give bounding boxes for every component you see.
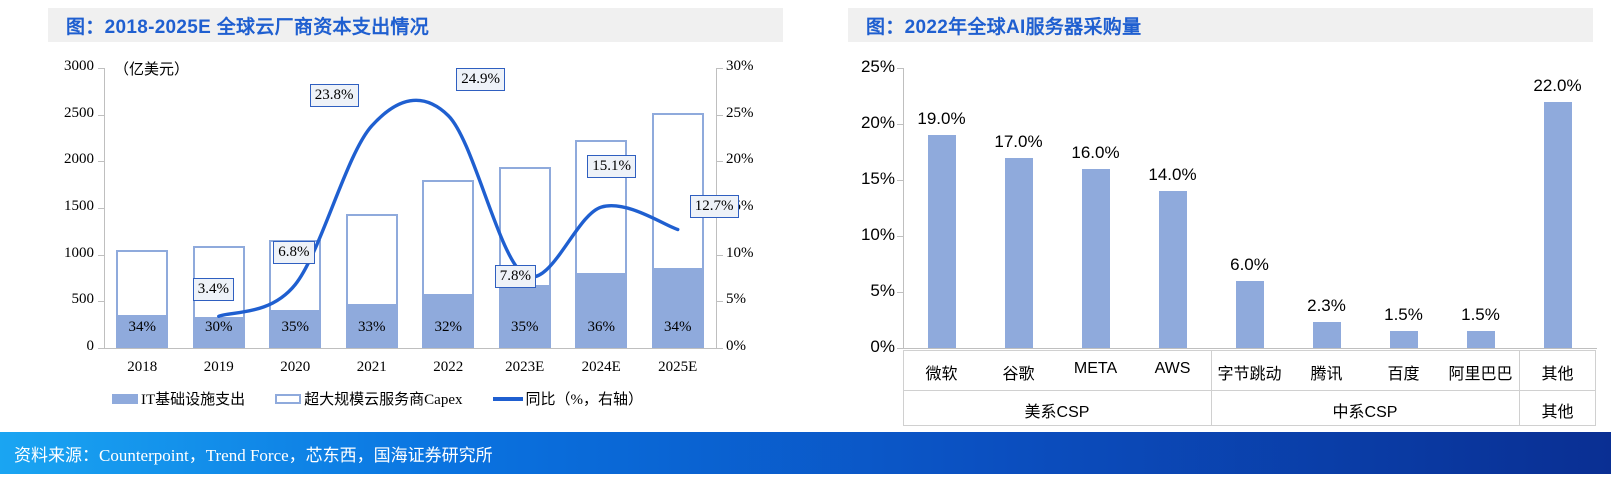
bar-其他 — [1544, 102, 1572, 348]
legend-item-it-infra: IT基础设施支出 — [112, 388, 245, 409]
group-label-中系CSP: 中系CSP — [1285, 398, 1445, 422]
yoy-callout-2023E: 7.8% — [495, 265, 536, 288]
bar-AWS — [1159, 191, 1187, 348]
bar-value-label-其他: 22.0% — [1508, 76, 1608, 96]
line-icon — [493, 397, 523, 401]
yoy-callout-2025E: 12.7% — [690, 195, 739, 218]
bar-value-label-AWS: 14.0% — [1123, 165, 1223, 185]
category-label-其他: 其他 — [1510, 360, 1606, 384]
filled-square-icon — [112, 394, 138, 404]
bar-value-label-微软: 19.0% — [892, 109, 992, 129]
bar-微软 — [928, 135, 956, 348]
bar-字节跳动 — [1236, 281, 1264, 348]
group-label-其他: 其他 — [1478, 398, 1611, 422]
legend-item-yoy: 同比（%，右轴） — [493, 388, 644, 409]
category-group-row-divider — [903, 390, 1596, 391]
bar-value-label-META: 16.0% — [1046, 143, 1146, 163]
slide-canvas: 图：2018-2025E 全球云厂商资本支出情况 050010001500200… — [0, 0, 1611, 482]
left-plot-area: 0500100015002000250030000%5%10%15%20%25%… — [0, 0, 800, 425]
right-chart-y-tick-label-20%: 20% — [837, 113, 895, 133]
yoy-callout-2021: 23.8% — [310, 84, 359, 107]
yoy-callout-2022: 24.9% — [456, 68, 505, 91]
yoy-callout-2024E: 15.1% — [587, 155, 636, 178]
right-chart-x-axis — [903, 348, 1597, 349]
right-chart-y-tick — [897, 236, 903, 237]
legend-label-hyperscaler-capex: 超大规模云服务商Capex — [304, 388, 462, 409]
group-label-美系CSP: 美系CSP — [977, 398, 1137, 422]
bar-META — [1082, 169, 1110, 348]
bar-谷歌 — [1005, 158, 1033, 348]
legend-item-hyperscaler-capex: 超大规模云服务商Capex — [275, 388, 462, 409]
legend-label-it-infra: IT基础设施支出 — [141, 388, 245, 409]
right-chart-y-tick-label-15%: 15% — [837, 169, 895, 189]
right-chart-y-tick — [897, 348, 903, 349]
right-chart-y-tick — [897, 292, 903, 293]
hollow-square-icon — [275, 394, 301, 404]
bar-腾讯 — [1313, 322, 1341, 348]
bar-百度 — [1390, 331, 1418, 348]
right-chart-y-tick-label-0%: 0% — [837, 337, 895, 357]
yoy-line-series — [0, 0, 800, 425]
legend-label-yoy: 同比（%，右轴） — [526, 388, 644, 409]
source-text: 资料来源：Counterpoint，Trend Force，芯东西，国海证券研究… — [0, 441, 493, 466]
bar-value-label-阿里巴巴: 1.5% — [1431, 305, 1531, 325]
bar-阿里巴巴 — [1467, 331, 1495, 348]
yoy-callout-2019: 3.4% — [193, 278, 234, 301]
yoy-callout-2020: 6.8% — [273, 241, 314, 264]
right-plot-area: 0%5%10%15%20%25%19.0%17.0%16.0%14.0%6.0%… — [830, 0, 1611, 425]
source-bar: 资料来源：Counterpoint，Trend Force，芯东西，国海证券研究… — [0, 432, 1611, 474]
right-chart-panel: 图：2022年全球AI服务器采购量 0%5%10%15%20%25%19.0%1… — [830, 0, 1611, 425]
right-chart-y-tick-label-5%: 5% — [837, 281, 895, 301]
left-chart-legend: IT基础设施支出 超大规模云服务商Capex 同比（%，右轴） — [112, 388, 643, 409]
right-chart-y-tick — [897, 68, 903, 69]
bar-value-label-字节跳动: 6.0% — [1200, 255, 1300, 275]
left-chart-panel: 图：2018-2025E 全球云厂商资本支出情况 050010001500200… — [0, 0, 800, 425]
right-chart-y-tick-label-25%: 25% — [837, 57, 895, 77]
right-chart-y-tick — [897, 180, 903, 181]
right-chart-y-tick-label-10%: 10% — [837, 225, 895, 245]
